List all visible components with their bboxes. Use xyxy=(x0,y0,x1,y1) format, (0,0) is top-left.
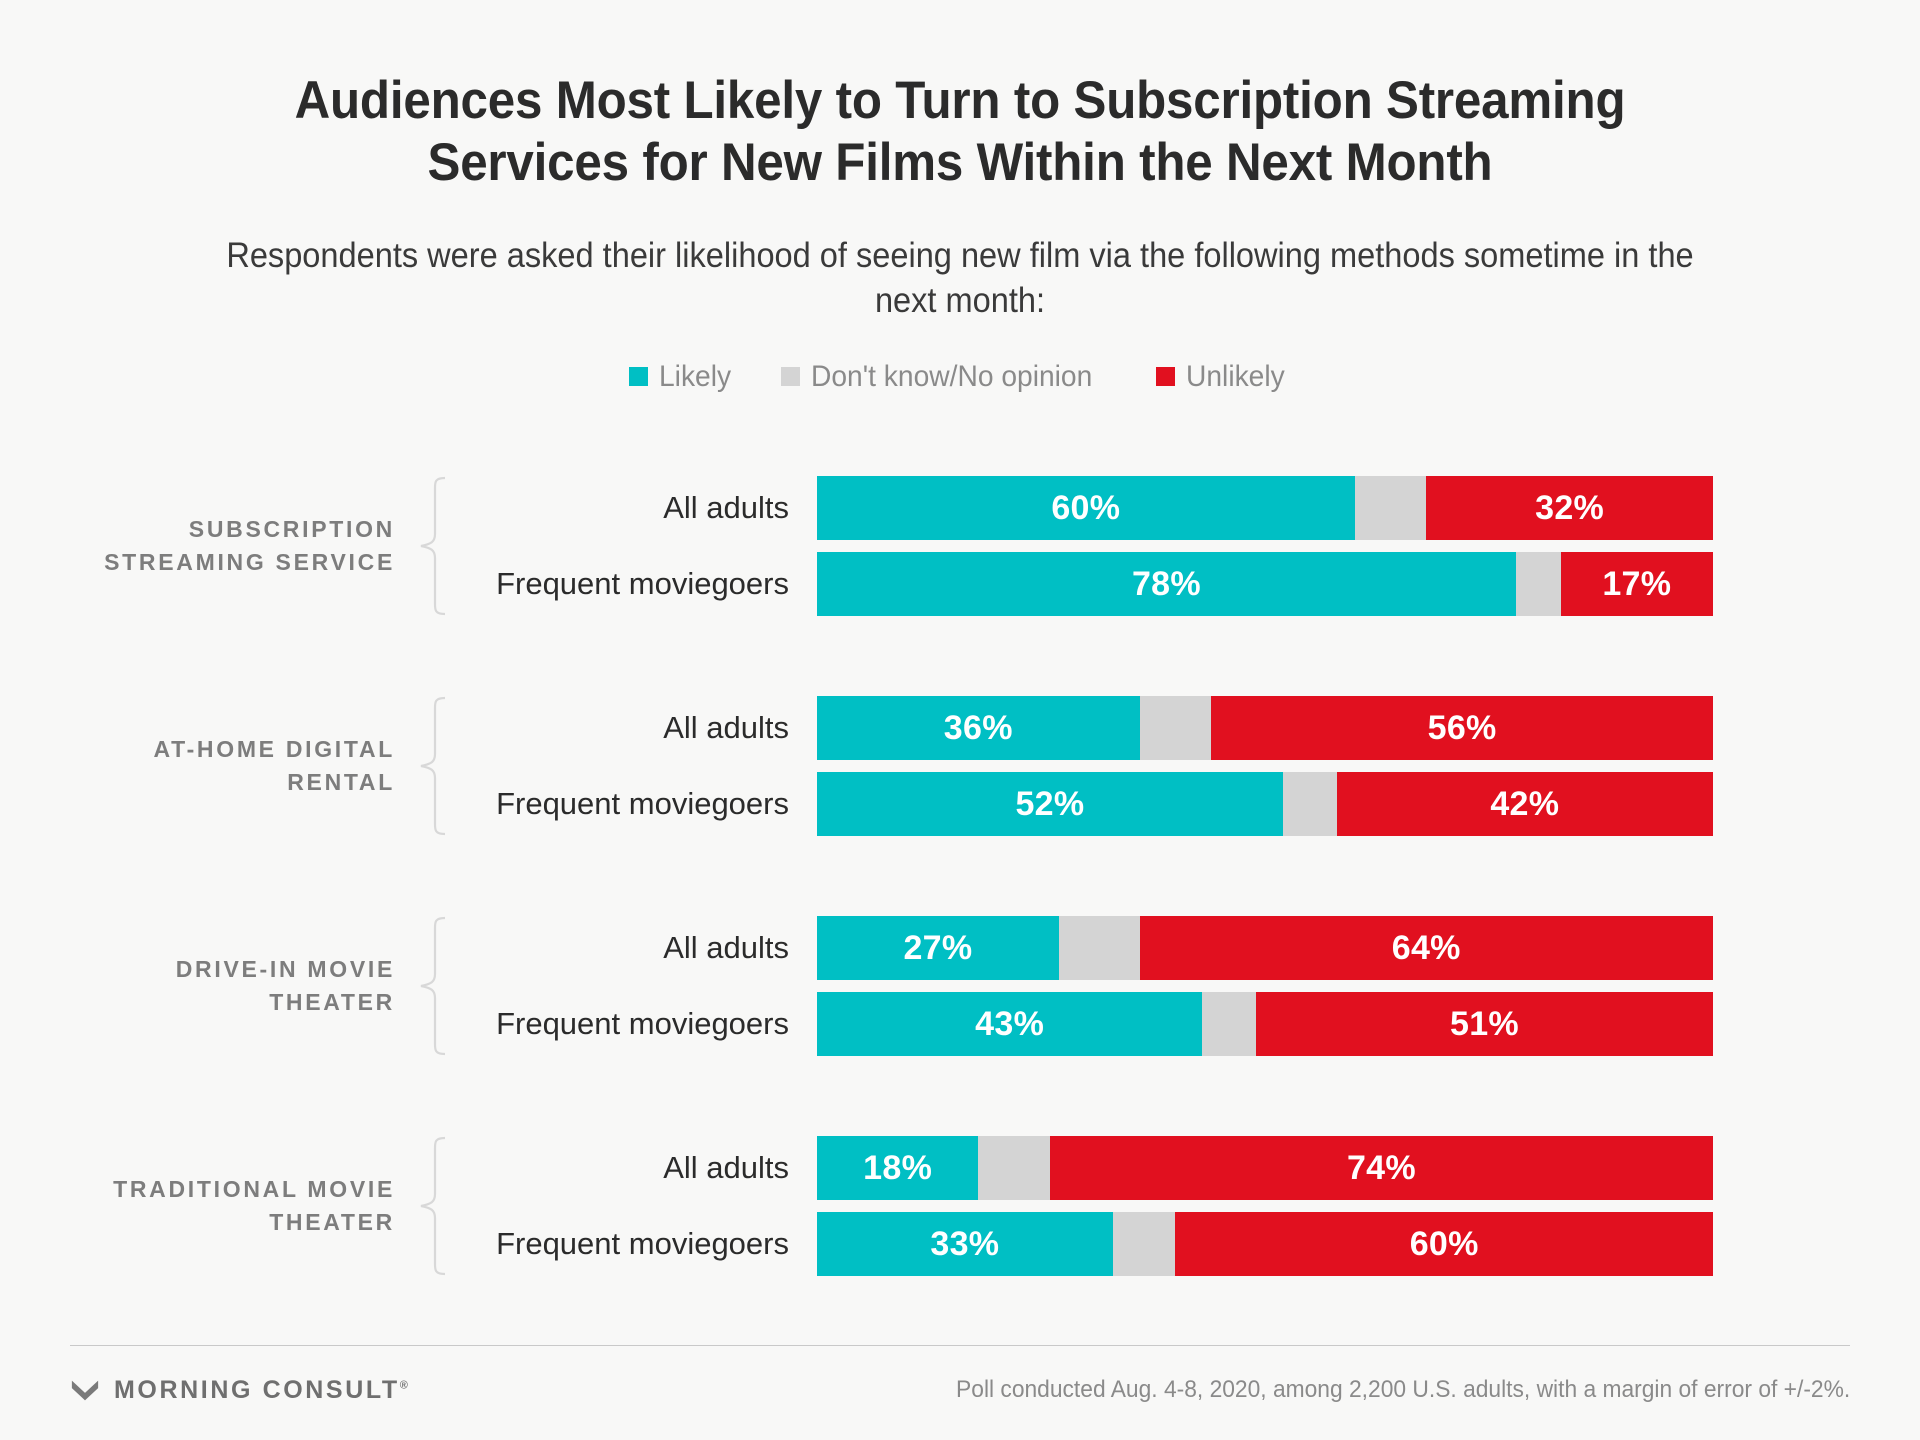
legend-label: Don't know/No opinion xyxy=(811,360,1092,394)
legend-square-red xyxy=(1156,367,1175,386)
group-rows: All adults60%8%32%Frequent moviegoers78%… xyxy=(467,476,1920,616)
bar-segment-unlikely[interactable]: 51% xyxy=(1256,992,1713,1056)
bar-segment-likely[interactable]: 36% xyxy=(817,696,1140,760)
group-category-label: Subscription Streaming Service xyxy=(95,513,395,578)
stacked-bar[interactable]: 36%8%56% xyxy=(817,696,1713,760)
page-title: Audiences Most Likely to Turn to Subscri… xyxy=(197,70,1722,194)
group-brace-icon xyxy=(413,1136,453,1276)
group-rows: All adults18%8%74%Frequent moviegoers33%… xyxy=(467,1136,1920,1276)
row-label: All adults xyxy=(467,1150,817,1186)
bar-value-label: 56% xyxy=(1428,709,1497,748)
bar-value-label: 60% xyxy=(1051,489,1120,528)
row-label: Frequent moviegoers xyxy=(467,1226,817,1262)
chart-subtitle: Respondents were asked their likelihood … xyxy=(197,234,1722,324)
stacked-bar[interactable]: 27%9%64% xyxy=(817,916,1713,980)
bar-value-label: 18% xyxy=(863,1149,932,1188)
group-brace-icon xyxy=(413,476,453,616)
bar-value-label: 43% xyxy=(975,1005,1044,1044)
chart-row: Frequent moviegoers78%5%17% xyxy=(467,552,1920,616)
bar-segment-likely[interactable]: 60% xyxy=(817,476,1355,540)
legend-item-2[interactable]: Unlikely xyxy=(1156,360,1291,394)
chart-row: Frequent moviegoers52%6%42% xyxy=(467,772,1920,836)
brand-name: MORNING CONSULT® xyxy=(114,1376,410,1405)
bar-segment-dk[interactable]: 7% xyxy=(1113,1212,1176,1276)
bar-value-label: 74% xyxy=(1347,1149,1416,1188)
bar-value-label: 42% xyxy=(1490,785,1559,824)
bar-segment-dk[interactable]: 6% xyxy=(1202,992,1256,1056)
bar-segment-dk[interactable]: 8% xyxy=(1140,696,1212,760)
chart-header: Audiences Most Likely to Turn to Subscri… xyxy=(0,0,1920,394)
group-brace-icon xyxy=(413,916,453,1056)
bar-segment-unlikely[interactable]: 60% xyxy=(1175,1212,1713,1276)
legend-item-1[interactable]: Don't know/No opinion xyxy=(781,360,1110,394)
bar-value-label: 60% xyxy=(1410,1225,1479,1264)
stacked-bar[interactable]: 33%7%60% xyxy=(817,1212,1713,1276)
brand-name-text: MORNING CONSULT xyxy=(114,1376,400,1404)
stacked-bar[interactable]: 78%5%17% xyxy=(817,552,1713,616)
row-label: All adults xyxy=(467,490,817,526)
chart-row: Frequent moviegoers43%6%51% xyxy=(467,992,1920,1056)
row-label: Frequent moviegoers xyxy=(467,566,817,602)
bar-value-label: 33% xyxy=(930,1225,999,1264)
chart-row: Frequent moviegoers33%7%60% xyxy=(467,1212,1920,1276)
bar-segment-unlikely[interactable]: 32% xyxy=(1426,476,1713,540)
group-category-label: Traditional Movie Theater xyxy=(95,1173,395,1238)
legend-square-gray xyxy=(781,367,800,386)
chart-footer: MORNING CONSULT® Poll conducted Aug. 4-8… xyxy=(70,1375,1850,1405)
bar-segment-likely[interactable]: 52% xyxy=(817,772,1283,836)
chart-group: Drive-In Movie TheaterAll adults27%9%64%… xyxy=(0,910,1920,1062)
chart-row: All adults27%9%64% xyxy=(467,916,1920,980)
chart-group: Subscription Streaming ServiceAll adults… xyxy=(0,470,1920,622)
bar-segment-dk[interactable]: 5% xyxy=(1516,552,1561,616)
bar-segment-dk[interactable]: 6% xyxy=(1283,772,1337,836)
bar-segment-likely[interactable]: 33% xyxy=(817,1212,1113,1276)
group-rows: All adults36%8%56%Frequent moviegoers52%… xyxy=(467,696,1920,836)
bar-segment-dk[interactable]: 8% xyxy=(978,1136,1050,1200)
infographic-page: Audiences Most Likely to Turn to Subscri… xyxy=(0,0,1920,1440)
row-label: All adults xyxy=(467,930,817,966)
group-brace-icon xyxy=(413,696,453,836)
brand-logo: MORNING CONSULT® xyxy=(70,1375,410,1405)
stacked-bar[interactable]: 43%6%51% xyxy=(817,992,1713,1056)
bar-segment-unlikely[interactable]: 42% xyxy=(1337,772,1713,836)
bar-segment-unlikely[interactable]: 17% xyxy=(1561,552,1713,616)
chart-row: All adults36%8%56% xyxy=(467,696,1920,760)
morning-consult-chevron-icon xyxy=(70,1375,100,1405)
chart-legend: LikelyDon't know/No opinionUnlikely xyxy=(140,360,1780,394)
legend-label: Likely xyxy=(659,360,731,394)
chart-row: All adults18%8%74% xyxy=(467,1136,1920,1200)
row-label: Frequent moviegoers xyxy=(467,786,817,822)
bar-value-label: 17% xyxy=(1602,565,1671,604)
bar-value-label: 78% xyxy=(1132,565,1201,604)
chart-row: All adults60%8%32% xyxy=(467,476,1920,540)
bar-value-label: 64% xyxy=(1392,929,1461,968)
row-label: All adults xyxy=(467,710,817,746)
bar-segment-unlikely[interactable]: 64% xyxy=(1140,916,1713,980)
group-category-label: At-Home Digital Rental xyxy=(95,733,395,798)
brand-trademark: ® xyxy=(400,1379,411,1391)
bar-value-label: 27% xyxy=(903,929,972,968)
chart-plot-area: Subscription Streaming ServiceAll adults… xyxy=(0,470,1920,1282)
group-category-label: Drive-In Movie Theater xyxy=(95,953,395,1018)
group-rows: All adults27%9%64%Frequent moviegoers43%… xyxy=(467,916,1920,1056)
chart-group: Traditional Movie TheaterAll adults18%8%… xyxy=(0,1130,1920,1282)
stacked-bar[interactable]: 60%8%32% xyxy=(817,476,1713,540)
stacked-bar[interactable]: 18%8%74% xyxy=(817,1136,1713,1200)
footer-divider xyxy=(70,1345,1850,1346)
bar-value-label: 52% xyxy=(1015,785,1084,824)
bar-segment-likely[interactable]: 43% xyxy=(817,992,1202,1056)
stacked-bar[interactable]: 52%6%42% xyxy=(817,772,1713,836)
bar-segment-unlikely[interactable]: 56% xyxy=(1211,696,1713,760)
row-label: Frequent moviegoers xyxy=(467,1006,817,1042)
bar-segment-likely[interactable]: 27% xyxy=(817,916,1059,980)
chart-group: At-Home Digital RentalAll adults36%8%56%… xyxy=(0,690,1920,842)
source-note: Poll conducted Aug. 4-8, 2020, among 2,2… xyxy=(956,1376,1850,1404)
legend-square-teal xyxy=(629,367,648,386)
bar-segment-dk[interactable]: 8% xyxy=(1355,476,1427,540)
legend-label: Unlikely xyxy=(1186,360,1285,394)
bar-value-label: 32% xyxy=(1535,489,1604,528)
bar-segment-likely[interactable]: 78% xyxy=(817,552,1516,616)
bar-segment-dk[interactable]: 9% xyxy=(1059,916,1140,980)
bar-value-label: 51% xyxy=(1450,1005,1519,1044)
bar-segment-likely[interactable]: 18% xyxy=(817,1136,978,1200)
bar-segment-unlikely[interactable]: 74% xyxy=(1050,1136,1713,1200)
bar-value-label: 36% xyxy=(944,709,1013,748)
legend-item-0[interactable]: Likely xyxy=(629,360,736,394)
